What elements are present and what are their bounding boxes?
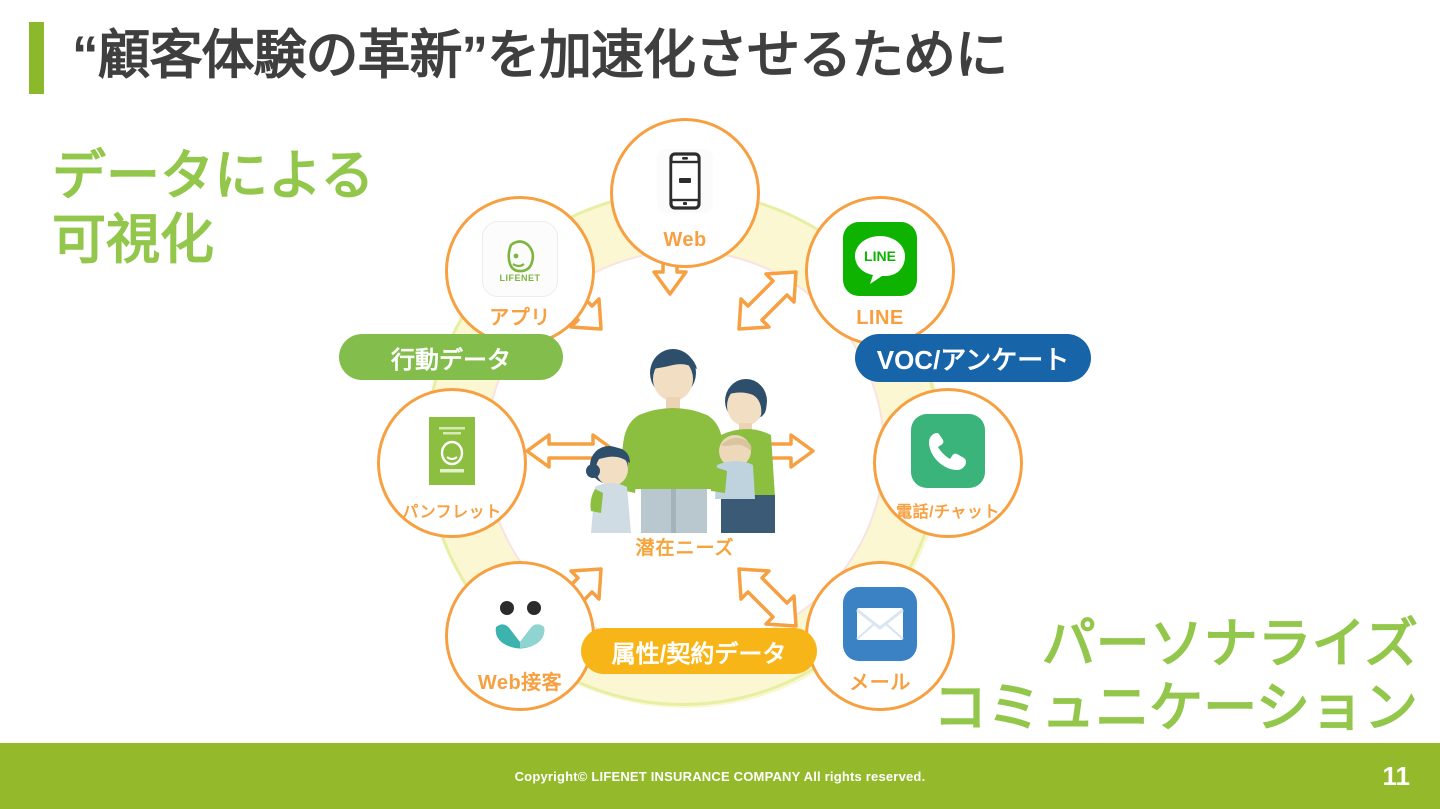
envelope-icon (840, 584, 920, 664)
node-label: Web接客 (448, 666, 592, 695)
page-title: “顧客体験の革新”を加速化させるために (72, 20, 1007, 92)
line-app-icon: LINE (840, 219, 920, 299)
slide-footer: Copyright© LIFENET INSURANCE COMPANY All… (0, 743, 1440, 809)
node-label: アプリ (448, 301, 592, 330)
touchpoint-node-app[interactable]: LIFENET アプリ (445, 196, 595, 346)
touchpoint-node-mail[interactable]: メール (805, 561, 955, 711)
touchpoint-node-line[interactable]: LINE LINE (805, 196, 955, 346)
node-label: 電話/チャット (876, 498, 1020, 522)
pill-voc-survey: VOC/アンケート (855, 334, 1091, 382)
lifenet-app-icon: LIFENET (480, 219, 560, 299)
family-illustration-svg (565, 343, 805, 538)
node-label: メール (808, 666, 952, 695)
touchpoint-node-web-customer-service[interactable]: Web接客 (445, 561, 595, 711)
smiley-face-icon (480, 584, 560, 664)
caption-data-visualization: データによる 可視化 (52, 144, 374, 272)
smartphone-icon (645, 141, 725, 221)
node-label: LINE (808, 307, 952, 330)
node-label: パンフレット (380, 498, 524, 522)
copyright-text: Copyright© LIFENET INSURANCE COMPANY All… (0, 743, 1440, 809)
title-accent-bar (29, 22, 44, 94)
brochure-icon (412, 411, 492, 491)
phone-icon (908, 411, 988, 491)
pill-behavior-data: 行動データ (339, 334, 563, 380)
svg-text:LIFENET: LIFENET (500, 273, 541, 283)
family-illustration: 潜在ニーズ (565, 343, 805, 583)
svg-text:LINE: LINE (864, 248, 896, 264)
touchpoint-node-web[interactable]: Web (610, 118, 760, 268)
page-number: 11 (1383, 743, 1411, 809)
center-label: 潜在ニーズ (565, 533, 805, 560)
arrow-diagonal-upright-icon (728, 268, 800, 340)
customer-touchpoint-diagram: 潜在ニーズ Web LINE LINE (335, 118, 1035, 718)
touchpoint-node-pamphlet[interactable]: パンフレット (377, 388, 527, 538)
node-label: Web (613, 229, 757, 252)
touchpoint-node-phone-chat[interactable]: 電話/チャット (873, 388, 1023, 538)
slide-header: “顧客体験の革新”を加速化させるために (0, 0, 1440, 110)
pill-attribute-contract-data: 属性/契約データ (581, 628, 817, 674)
